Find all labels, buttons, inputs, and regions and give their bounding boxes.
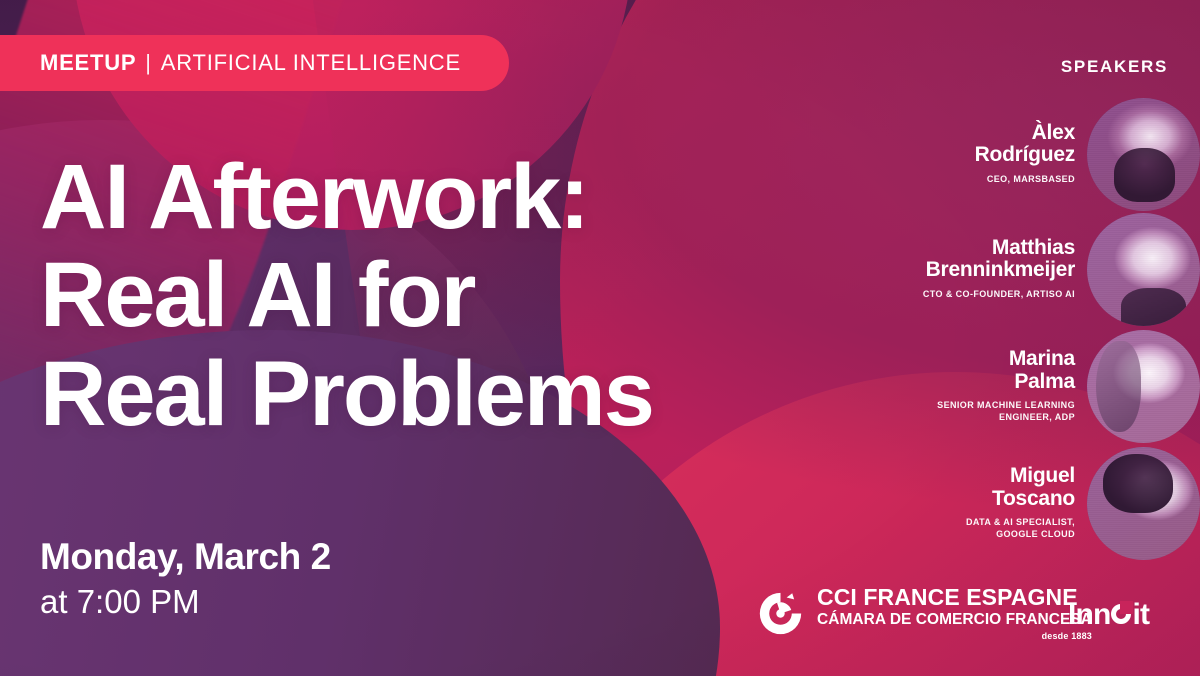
logo-innoit: Inn it bbox=[1068, 598, 1149, 632]
event-date: Monday, March 2 bbox=[40, 535, 331, 579]
speaker-3-name: Marina Palma bbox=[937, 348, 1075, 393]
speaker-2-name: Matthias Brenninkmeijer bbox=[923, 237, 1075, 282]
cci-name-secondary: CÁMARA DE COMERCIO FRANCESA bbox=[817, 612, 1092, 628]
speaker-4-role: DATA & AI SPECIALIST, GOOGLE CLOUD bbox=[966, 517, 1075, 540]
speaker-1-text: Àlex Rodríguez CEO, MARSBASED bbox=[975, 122, 1087, 188]
speaker-1-name: Àlex Rodríguez bbox=[975, 122, 1075, 167]
meetup-category-badge: MEETUP | ARTIFICIAL INTELLIGENCE bbox=[0, 35, 509, 91]
event-datetime: Monday, March 2 at 7:00 PM bbox=[40, 535, 331, 624]
speaker-4-name: Miguel Toscano bbox=[966, 465, 1075, 510]
speaker-1-role: CEO, MARSBASED bbox=[975, 174, 1075, 185]
speaker-3-grain-overlay bbox=[1087, 330, 1200, 443]
speaker-1-grain-overlay bbox=[1087, 98, 1200, 211]
speaker-2-role: CTO & CO-FOUNDER, ARTISO AI bbox=[923, 289, 1075, 300]
speaker-4-grain-overlay bbox=[1087, 447, 1200, 560]
speaker-4-avatar bbox=[1087, 447, 1200, 560]
speaker-3-text: Marina Palma SENIOR MACHINE LEARNING ENG… bbox=[937, 348, 1087, 425]
cci-name-primary: CCI FRANCE ESPAGNE bbox=[817, 586, 1092, 609]
speaker-2-grain-overlay bbox=[1087, 213, 1200, 326]
speaker-card-3: Marina Palma SENIOR MACHINE LEARNING ENG… bbox=[800, 330, 1200, 443]
badge-label-topic: ARTIFICIAL INTELLIGENCE bbox=[161, 50, 461, 76]
innoit-text-part-1: Inn bbox=[1068, 598, 1110, 632]
speaker-2-text: Matthias Brenninkmeijer CTO & CO-FOUNDER… bbox=[923, 237, 1087, 303]
speaker-card-4: Miguel Toscano DATA & AI SPECIALIST, GOO… bbox=[800, 447, 1200, 560]
speaker-3-role: SENIOR MACHINE LEARNING ENGINEER, ADP bbox=[937, 400, 1075, 423]
cci-logo-text: CCI FRANCE ESPAGNE CÁMARA DE COMERCIO FR… bbox=[817, 586, 1092, 641]
cci-founded-year: desde 1883 bbox=[817, 632, 1092, 641]
event-time: at 7:00 PM bbox=[40, 581, 331, 624]
badge-separator: | bbox=[145, 50, 152, 76]
innoit-text-part-2: it bbox=[1132, 598, 1149, 632]
speaker-card-1: Àlex Rodríguez CEO, MARSBASED bbox=[800, 98, 1200, 211]
speaker-3-avatar bbox=[1087, 330, 1200, 443]
speakers-heading: SPEAKERS bbox=[1061, 57, 1168, 77]
speaker-2-avatar bbox=[1087, 213, 1200, 326]
title-line-3: Real Problems bbox=[40, 345, 653, 443]
title-line-2: Real AI for bbox=[40, 246, 653, 344]
speaker-4-text: Miguel Toscano DATA & AI SPECIALIST, GOO… bbox=[966, 465, 1087, 542]
cci-circle-logo-icon bbox=[757, 590, 804, 637]
logo-cci-france-espagne: CCI FRANCE ESPAGNE CÁMARA DE COMERCIO FR… bbox=[757, 586, 1092, 641]
speaker-card-2: Matthias Brenninkmeijer CTO & CO-FOUNDER… bbox=[800, 213, 1200, 326]
speaker-1-avatar bbox=[1087, 98, 1200, 211]
badge-label-meetup: MEETUP bbox=[40, 50, 136, 76]
innoit-o-glyph-icon bbox=[1111, 604, 1131, 624]
event-poster: MEETUP | ARTIFICIAL INTELLIGENCE AI Afte… bbox=[0, 0, 1200, 676]
event-title: AI Afterwork: Real AI for Real Problems bbox=[40, 148, 653, 443]
title-line-1: AI Afterwork: bbox=[40, 148, 653, 246]
